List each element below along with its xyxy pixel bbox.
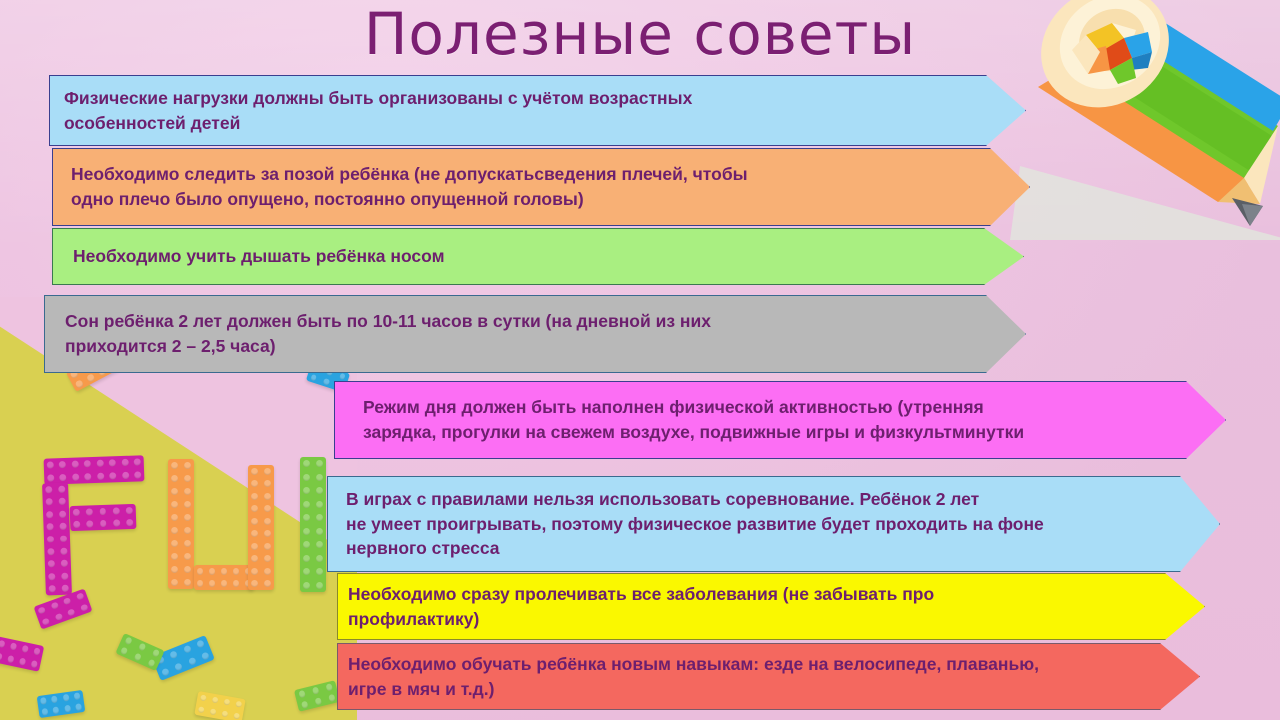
lego-brick xyxy=(194,565,254,590)
slide-canvas: Полезные советы Физические нагрузки долж… xyxy=(0,0,1280,720)
banner-teach-new-skills: Необходимо обучать ребёнка новым навыкам… xyxy=(337,643,1200,710)
page-title: Полезные советы xyxy=(0,4,1280,65)
banner-text: Сон ребёнка 2 лет должен быть по 10-11 ч… xyxy=(65,309,973,359)
lego-brick xyxy=(70,504,137,531)
banner-nose-breathing: Необходимо учить дышать ребёнка носом xyxy=(52,228,1024,285)
banner-text: Режим дня должен быть наполнен физическо… xyxy=(363,395,1173,445)
banner-text: В играх с правилами нельзя использовать … xyxy=(346,487,1167,562)
banner-text: Необходимо сразу пролечивать все заболев… xyxy=(348,582,1152,632)
banner-text: Необходимо учить дышать ребёнка носом xyxy=(73,244,971,269)
banner-daily-routine-activity: Режим дня должен быть наполнен физическо… xyxy=(334,381,1226,459)
lego-brick xyxy=(300,457,326,592)
banner-treat-illness-promptly: Необходимо сразу пролечивать все заболев… xyxy=(337,573,1205,640)
banner-text: Физические нагрузки должны быть организо… xyxy=(64,86,973,136)
banner-text: Необходимо обучать ребёнка новым навыкам… xyxy=(348,652,1147,702)
banner-no-competition-games: В играх с правилами нельзя использовать … xyxy=(327,476,1220,572)
banner-posture-monitoring: Необходимо следить за позой ребёнка (не … xyxy=(52,148,1030,226)
lego-brick xyxy=(248,465,274,590)
lego-brick xyxy=(42,483,72,596)
lego-brick xyxy=(168,459,194,589)
lego-brick xyxy=(44,455,145,484)
banner-sleep-duration: Сон ребёнка 2 лет должен быть по 10-11 ч… xyxy=(44,295,1026,373)
banner-text: Необходимо следить за позой ребёнка (не … xyxy=(71,162,977,212)
banner-physical-activity-age: Физические нагрузки должны быть организо… xyxy=(49,75,1026,146)
